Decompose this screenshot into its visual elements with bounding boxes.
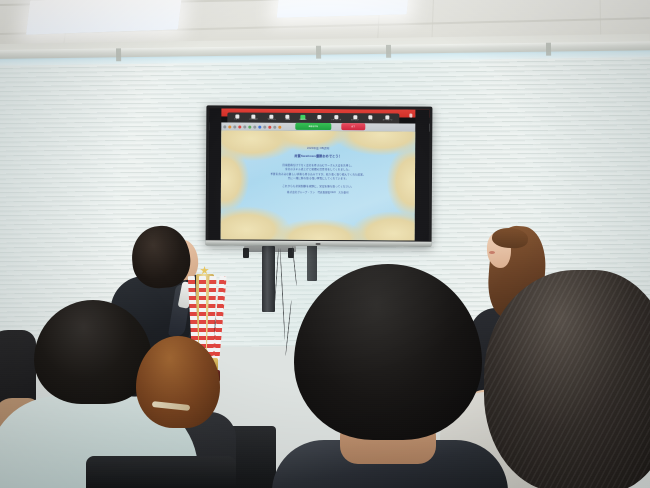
share-screen-button[interactable]: 画面を共有 [295, 122, 331, 129]
toolbar-icon[interactable] [238, 125, 241, 128]
toolbar-icon[interactable] [223, 125, 226, 128]
toolbar-icon[interactable] [228, 125, 231, 128]
tv-screen: ミュート ビデオの停止 セキュリティ 参加者 画面の共有 [209, 108, 430, 240]
chair-left [86, 456, 236, 488]
tv-power-led [316, 242, 321, 244]
participants-icon [286, 115, 290, 119]
zoom-toolbar-apps[interactable]: アプリ [369, 115, 373, 121]
shield-icon [270, 115, 274, 119]
toolbar-icon[interactable] [243, 125, 246, 128]
end-meeting-button[interactable]: 終了 [341, 123, 365, 130]
whiteboard-icon [385, 115, 389, 119]
conference-room-photo: ミュート ビデオの停止 セキュリティ 参加者 画面の共有 [0, 0, 650, 488]
zoom-toolbar-record[interactable]: レコーディング [331, 115, 341, 121]
zoom-toolbar-video[interactable]: ビデオの停止 [249, 115, 257, 121]
toolbar-icon[interactable] [253, 125, 256, 128]
toolbar-icon[interactable] [278, 125, 281, 128]
audience-member-right-hair [484, 270, 650, 488]
slide-border-ornament [351, 211, 416, 240]
certificate-slide: 2023年度 OB訪問 用賀Swallows優勝おめでとう！ 日頃業務だけでなく… [221, 130, 416, 240]
slide-text-block: 2023年度 OB訪問 用賀Swallows優勝おめでとう！ 日頃業務だけでなく… [235, 146, 401, 195]
toolbar-icon[interactable] [258, 125, 261, 128]
slide-title: 用賀Swallows優勝おめでとう！ [235, 154, 401, 159]
letterbox-bar-left [209, 108, 222, 239]
reactions-icon [353, 115, 357, 119]
ceiling-light-left [26, 0, 182, 35]
toolbar-icon[interactable] [248, 125, 251, 128]
zoom-toolbar-mute[interactable]: ミュート [234, 114, 240, 120]
letterbox-bar-right [415, 110, 430, 241]
blind-bracket [116, 48, 121, 61]
zoom-toolbar-chat[interactable]: チャット [316, 115, 322, 121]
zoom-toolbar-reactions[interactable]: リアクション [351, 115, 359, 121]
zoom-toolbar-participants[interactable]: 参加者 [286, 115, 290, 121]
slide-header: 2023年度 OB訪問 [235, 146, 401, 151]
tv-stand-clip [243, 248, 249, 258]
standing-woman-lips [489, 251, 495, 254]
blind-bracket [316, 46, 321, 59]
zoom-toolbar-whiteboard[interactable]: ホワイトボード [383, 115, 393, 121]
wall-mounted-display: ミュート ビデオの停止 セキュリティ 参加者 画面の共有 [206, 105, 433, 246]
zoom-toolbar-security[interactable]: セキュリティ [268, 115, 276, 121]
record-icon [334, 115, 338, 119]
apps-icon [369, 115, 373, 119]
blind-bracket [386, 45, 391, 58]
microphone-icon [235, 114, 239, 118]
audience-member-brown-hair [136, 336, 220, 428]
video-camera-icon [252, 115, 256, 119]
toolbar-icon[interactable] [273, 125, 276, 128]
toolbar-icon[interactable] [263, 125, 266, 128]
toolbar-icon[interactable] [268, 125, 271, 128]
tv-stand-column [262, 246, 275, 312]
minimize-icon[interactable] [409, 114, 413, 118]
toolbar-icon[interactable] [233, 125, 236, 128]
slide-signature: 株式会社グループ・ワン 代表取締役CEO 大矢雄司 [235, 190, 401, 195]
zoom-toolbar-share[interactable]: 画面の共有 [299, 114, 306, 121]
chat-icon [317, 115, 321, 119]
door-frame [307, 243, 317, 281]
share-screen-icon [300, 114, 305, 119]
